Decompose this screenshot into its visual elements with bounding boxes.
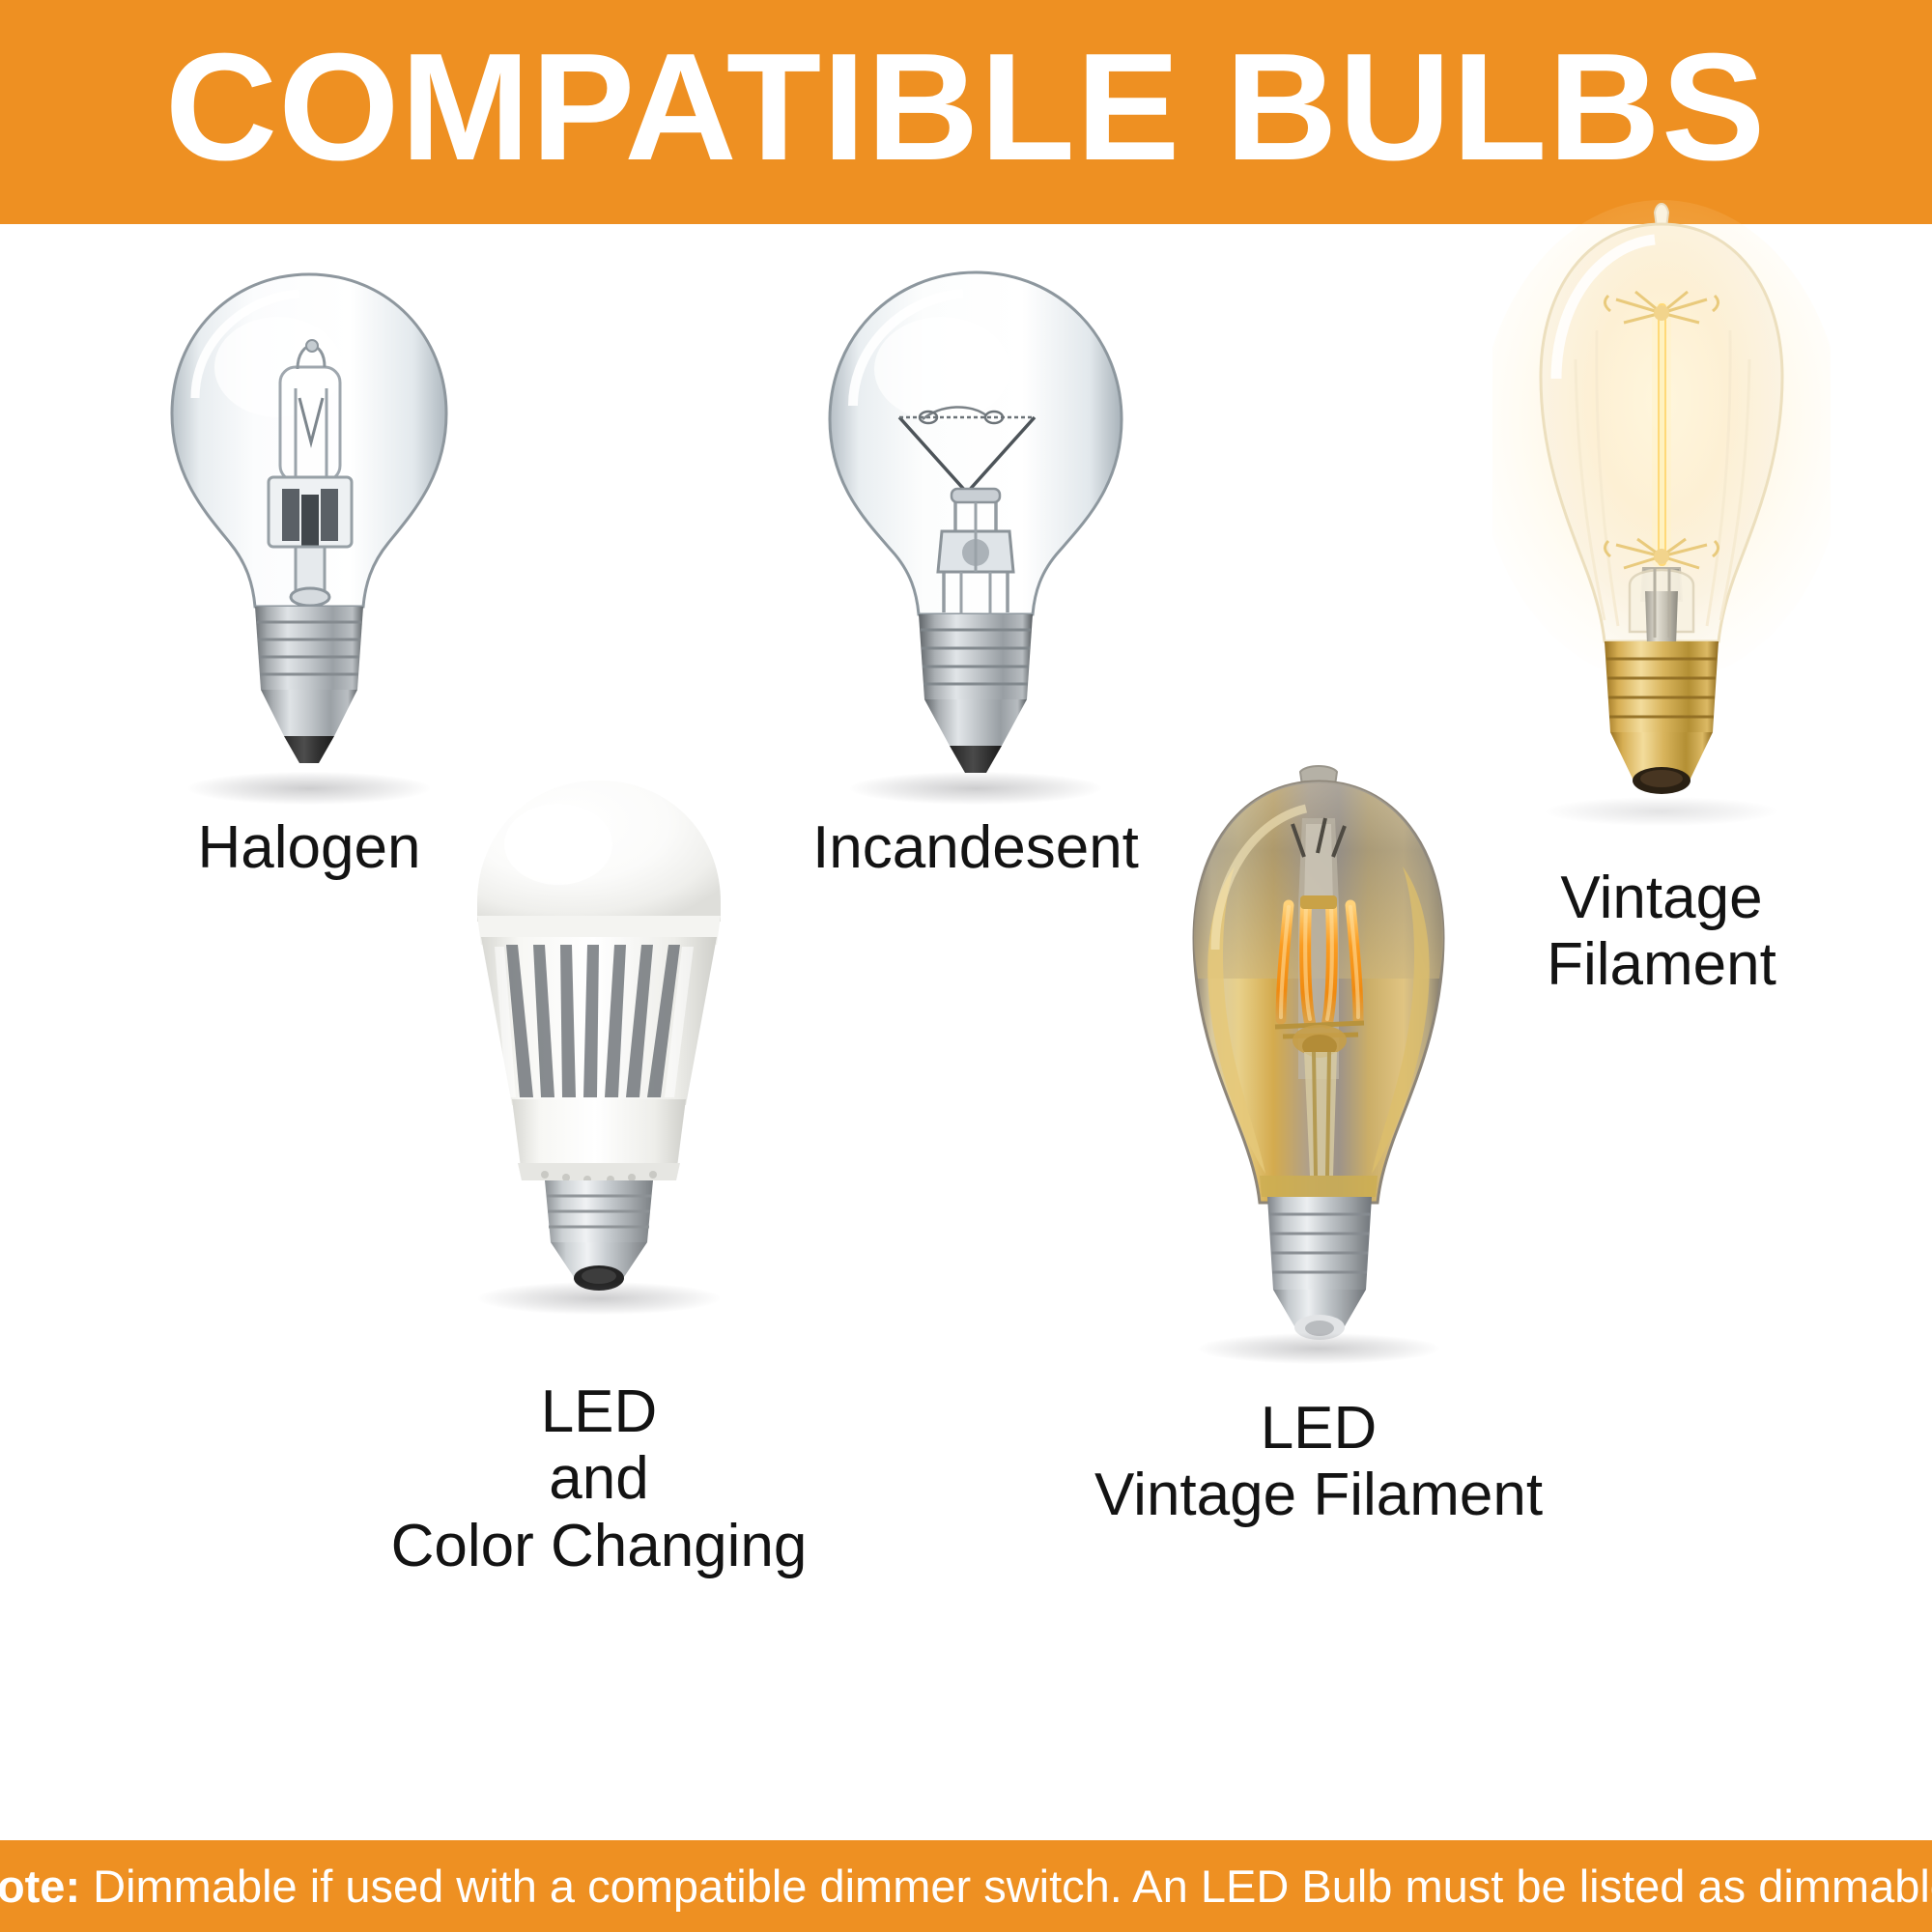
page-title: COMPATIBLE BULBS bbox=[165, 31, 1767, 193]
bulb-label-led-vintage-filament: LED Vintage Filament bbox=[1094, 1395, 1543, 1529]
bulb-card-led: LED and Color Changing bbox=[299, 765, 898, 1579]
footer-note-label: Note: bbox=[0, 1861, 80, 1912]
bulb-card-led-vintage-filament: LED Vintage Filament bbox=[1019, 760, 1618, 1529]
led-bulb-icon bbox=[444, 765, 753, 1311]
footer-note: Note: Dimmable if used with a compatible… bbox=[0, 1863, 1932, 1909]
vintage-filament-bulb-icon bbox=[1492, 195, 1831, 838]
bulb-label-led: LED and Color Changing bbox=[391, 1378, 808, 1579]
bulb-grid: Halogen bbox=[0, 224, 1932, 1840]
footer-note-text: Dimmable if used with a compatible dimme… bbox=[80, 1861, 1932, 1912]
footer-note-banner: Note: Dimmable if used with a compatible… bbox=[0, 1840, 1932, 1932]
incandescent-bulb-icon bbox=[797, 253, 1154, 799]
halogen-bulb-icon bbox=[135, 253, 483, 799]
header-banner: COMPATIBLE BULBS bbox=[0, 0, 1932, 224]
led-vintage-filament-bulb-icon bbox=[1159, 760, 1478, 1364]
